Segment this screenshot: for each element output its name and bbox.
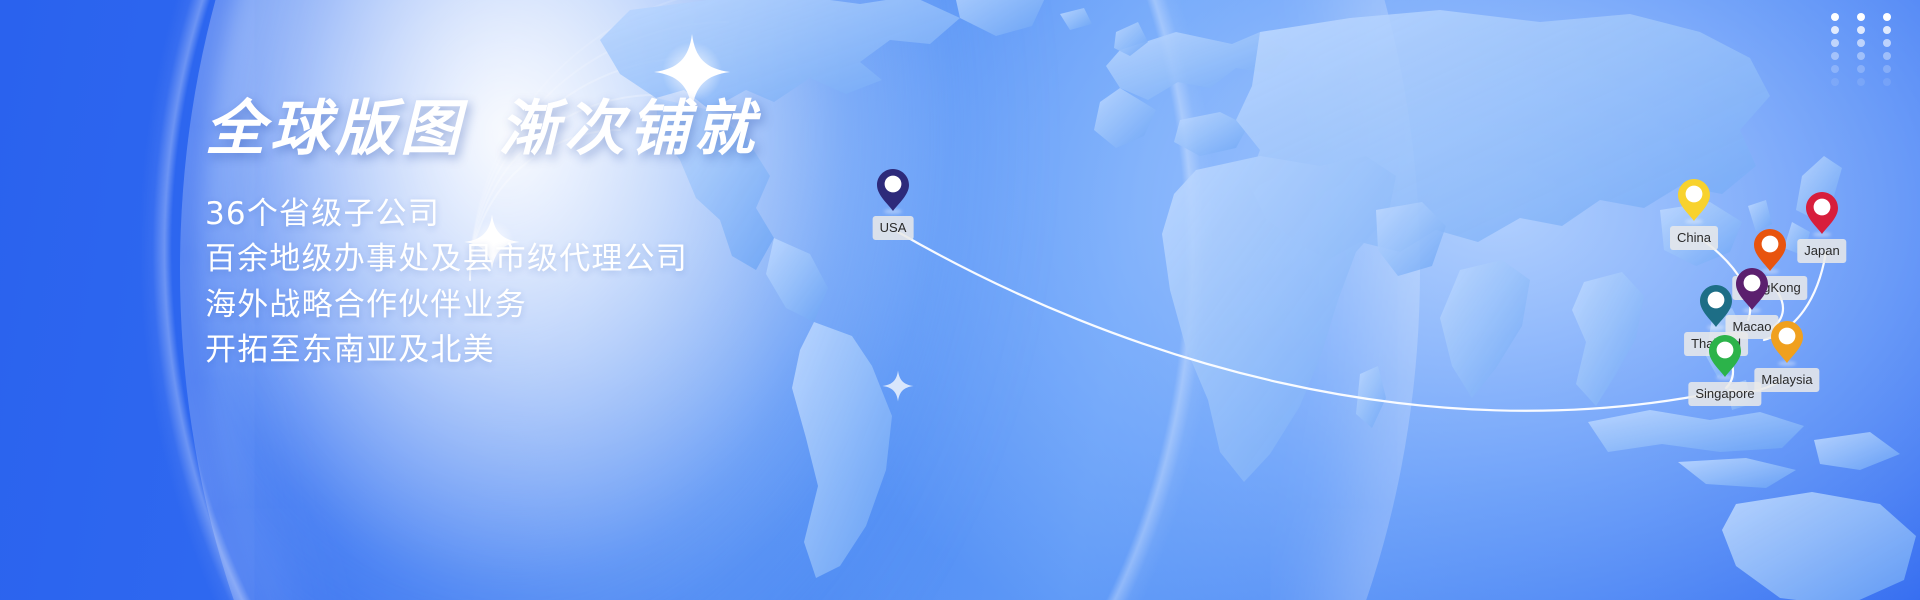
grid-dot	[1831, 39, 1839, 47]
grid-dot	[1857, 39, 1865, 47]
map-pin-icon	[1708, 334, 1742, 378]
marker-label: China	[1670, 226, 1718, 250]
map-pin-icon	[1805, 191, 1839, 235]
grid-dot	[1831, 13, 1839, 21]
grid-dot	[1883, 78, 1891, 86]
headline-part-2: 渐次铺就	[499, 94, 759, 164]
subtitle-list: 36个省级子公司 百余地级办事处及县市级代理公司 海外战略合作伙伴业务 开拓至东…	[205, 192, 905, 373]
banner-text-block: 全球版图渐次铺就 36个省级子公司 百余地级办事处及县市级代理公司 海外战略合作…	[205, 96, 905, 373]
grid-dot	[1883, 39, 1891, 47]
grid-dot	[1857, 13, 1865, 21]
grid-dot	[1831, 52, 1839, 60]
map-pin-icon	[1699, 284, 1733, 328]
grid-dot	[1857, 78, 1865, 86]
map-pin-icon	[1753, 228, 1787, 272]
map-pin-icon	[1770, 320, 1804, 364]
subtitle-line-2: 百余地级办事处及县市级代理公司	[205, 237, 905, 282]
marker-label: USA	[873, 216, 914, 240]
grid-dot	[1857, 26, 1865, 34]
grid-dot	[1883, 65, 1891, 73]
page-title: 全球版图渐次铺就	[205, 96, 905, 162]
grid-dot	[1883, 52, 1891, 60]
map-pin-icon	[1677, 178, 1711, 222]
map-pin-icon	[1735, 267, 1769, 311]
grid-dot	[1831, 78, 1839, 86]
dot-grid-decoration	[1822, 10, 1900, 88]
map-pin-icon	[876, 168, 910, 212]
marker-label: Japan	[1797, 239, 1846, 263]
headline-part-1: 全球版图	[205, 94, 465, 164]
marker-label: Singapore	[1688, 382, 1761, 406]
grid-dot	[1857, 52, 1865, 60]
grid-dot	[1857, 65, 1865, 73]
subtitle-line-4: 开拓至东南亚及北美	[205, 328, 905, 373]
grid-dot	[1831, 65, 1839, 73]
grid-dot	[1831, 26, 1839, 34]
grid-dot	[1883, 13, 1891, 21]
subtitle-line-3: 海外战略合作伙伴业务	[205, 283, 905, 328]
sparkle-star-icon	[880, 368, 916, 404]
marker-label: Malaysia	[1754, 368, 1819, 392]
subtitle-line-1: 36个省级子公司	[205, 192, 905, 237]
global-map-banner: 全球版图渐次铺就 36个省级子公司 百余地级办事处及县市级代理公司 海外战略合作…	[0, 0, 1920, 600]
grid-dot	[1883, 26, 1891, 34]
